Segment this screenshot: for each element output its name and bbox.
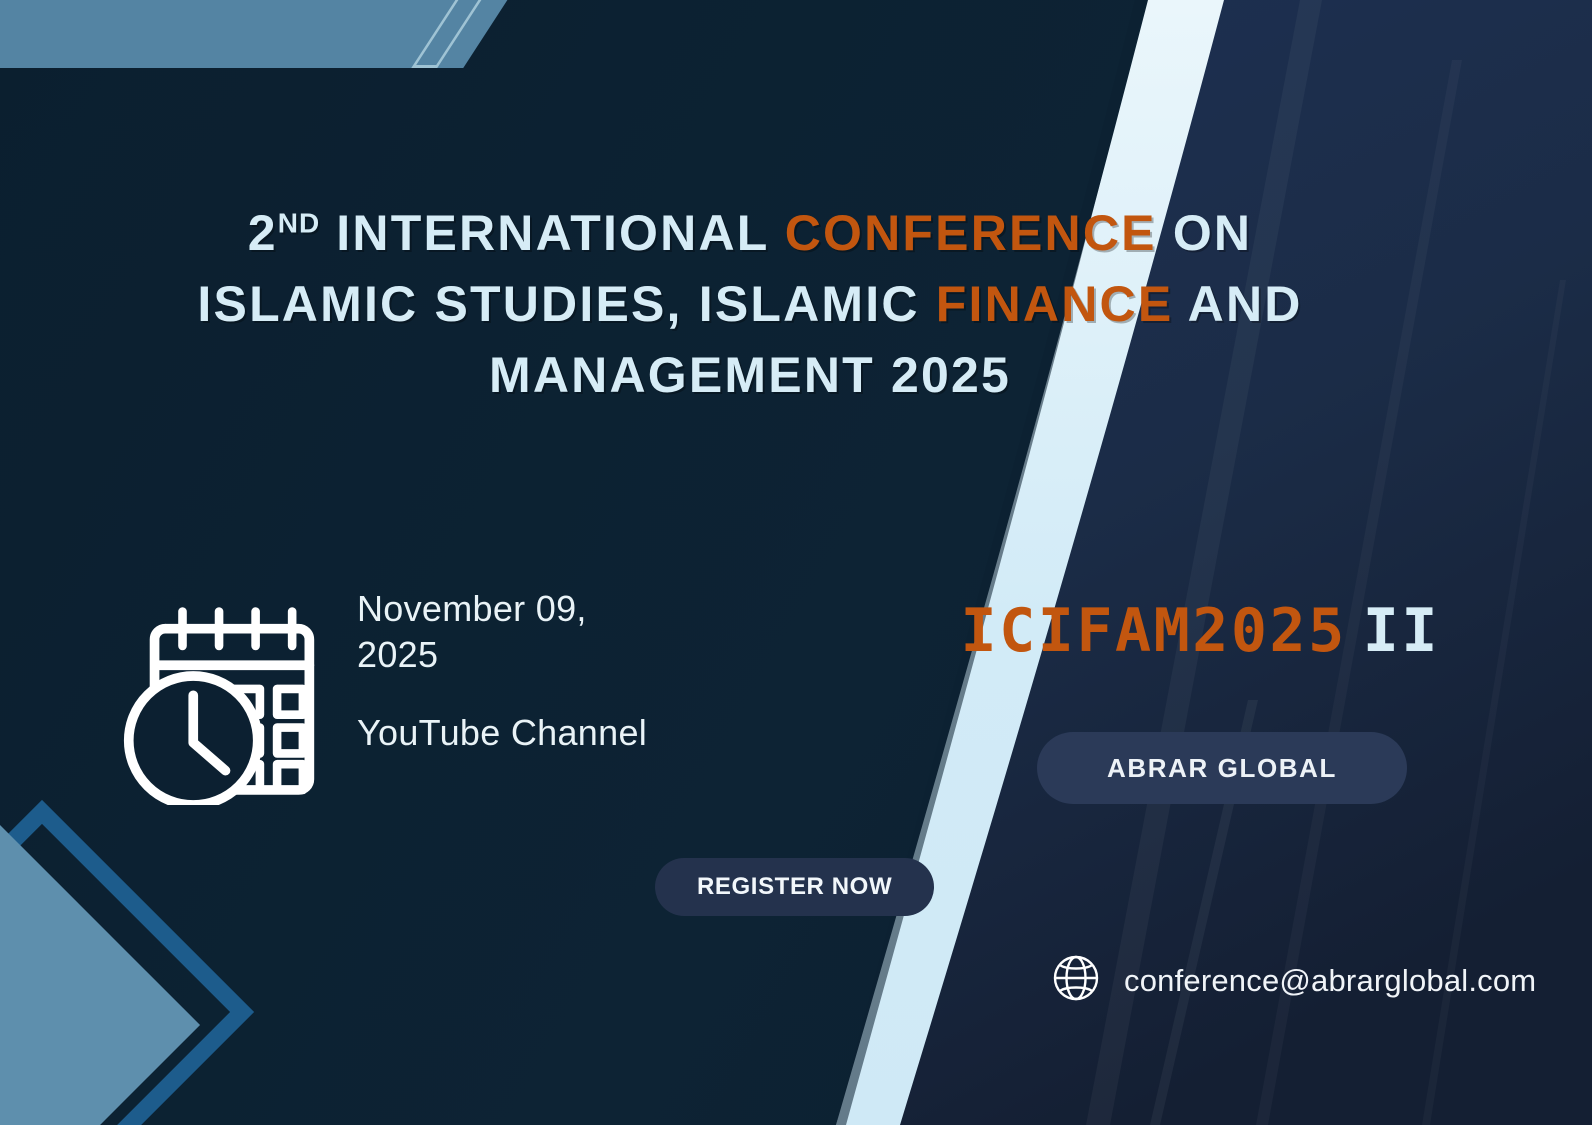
calendar-clock-icon <box>118 590 333 810</box>
conference-poster: 2ND INTERNATIONAL CONFERENCE ON ISLAMIC … <box>0 0 1592 1125</box>
contact-email[interactable]: conference@abrarglobal.com <box>1124 963 1536 999</box>
globe-icon <box>1050 952 1102 1009</box>
title-ordinal: 2 <box>248 205 278 261</box>
acronym-edition: II <box>1363 596 1440 666</box>
register-now-button[interactable]: REGISTER NOW <box>655 858 934 916</box>
title-line1-a: INTERNATIONAL <box>320 205 784 261</box>
event-venue: YouTube Channel <box>357 710 677 756</box>
page-title: 2ND INTERNATIONAL CONFERENCE ON ISLAMIC … <box>0 198 1500 411</box>
conference-acronym: ICIFAM2025II <box>961 596 1440 666</box>
acronym-text: ICIFAM2025 <box>961 596 1347 666</box>
title-line-2: ISLAMIC STUDIES, ISLAMIC FINANCE AND <box>0 269 1500 340</box>
title-line1-conference: CONFERENCE <box>785 205 1157 261</box>
event-details: November 09, 2025 YouTube Channel <box>118 586 677 810</box>
contact-info: conference@abrarglobal.com <box>1050 952 1536 1009</box>
title-ordinal-suffix: ND <box>278 207 320 238</box>
abrar-global-button[interactable]: ABRAR GLOBAL <box>1037 732 1407 804</box>
title-line-1: 2ND INTERNATIONAL CONFERENCE ON <box>0 198 1500 269</box>
event-text: November 09, 2025 YouTube Channel <box>357 586 677 756</box>
event-date: November 09, 2025 <box>357 586 677 678</box>
title-line-3: MANAGEMENT 2025 <box>0 340 1500 411</box>
title-line2-a: ISLAMIC STUDIES, ISLAMIC <box>197 276 935 332</box>
title-line1-c: ON <box>1157 205 1253 261</box>
title-line2-finance: FINANCE <box>936 276 1174 332</box>
title-line2-c: AND <box>1173 276 1302 332</box>
